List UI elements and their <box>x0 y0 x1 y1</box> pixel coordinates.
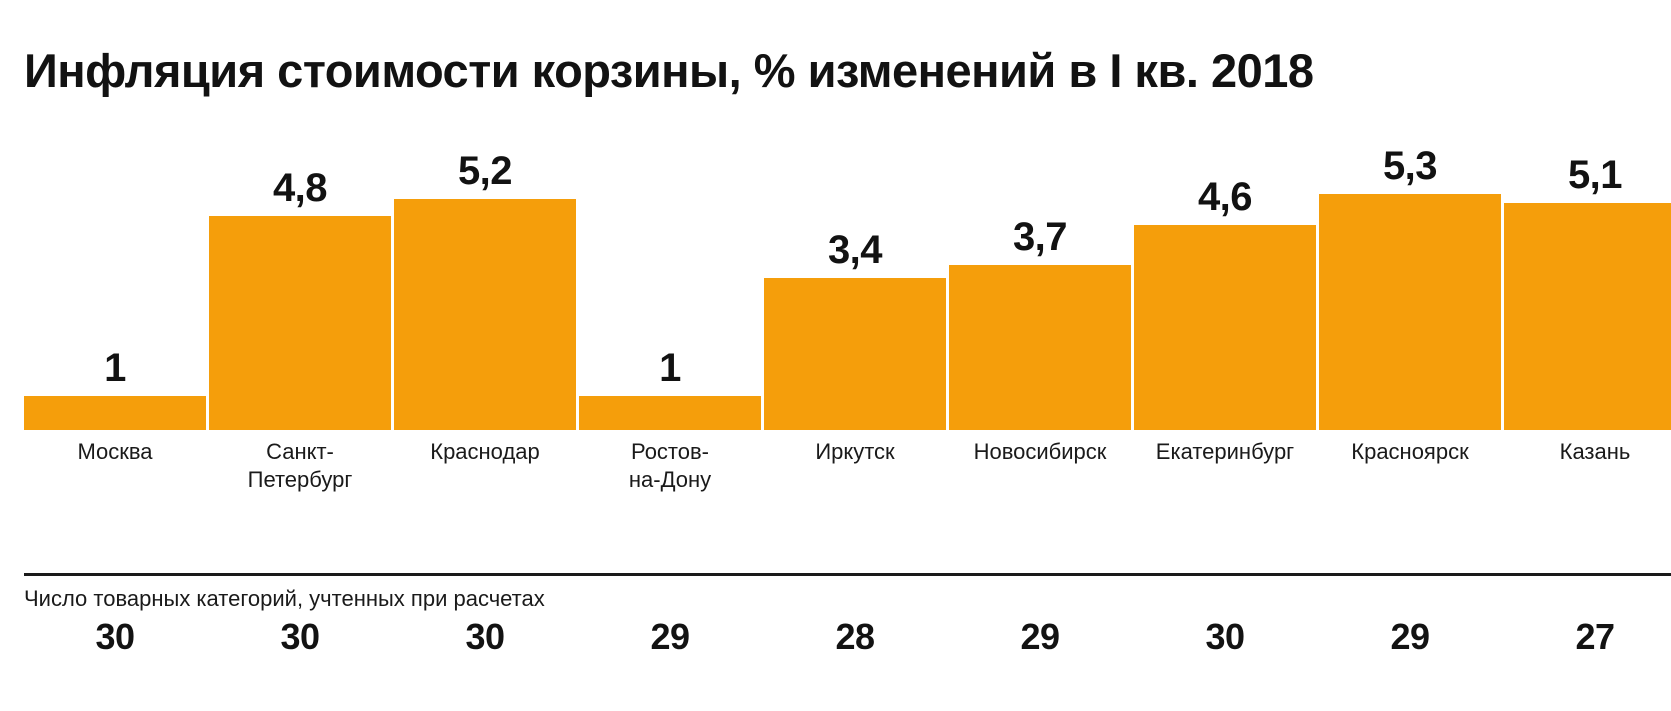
category-label-line: Казань <box>1504 438 1671 466</box>
category-count-value: 30 <box>24 616 206 658</box>
bar-value-label: 3,4 <box>764 228 946 273</box>
category-label-line: Новосибирск <box>949 438 1131 466</box>
category-count-value: 30 <box>394 616 576 658</box>
category-count-value: 29 <box>579 616 761 658</box>
bar-value-label: 4,8 <box>209 166 391 211</box>
bar <box>1504 203 1671 430</box>
bar <box>24 396 206 430</box>
bar <box>579 396 761 430</box>
category-label-line: Москва <box>24 438 206 466</box>
category-label: Москва <box>24 438 206 466</box>
bar <box>209 216 391 430</box>
category-label: Ростов-на-Дону <box>579 438 761 494</box>
category-label-line: Красноярск <box>1319 438 1501 466</box>
category-label: Краснодар <box>394 438 576 466</box>
bar-value-label: 3,7 <box>949 215 1131 260</box>
bar-value-label: 5,1 <box>1504 153 1671 198</box>
category-label-line: на-Дону <box>579 466 761 494</box>
footer-note: Число товарных категорий, учтенных при р… <box>24 586 545 612</box>
category-label: Красноярск <box>1319 438 1501 466</box>
category-count-value: 27 <box>1504 616 1671 658</box>
category-label: Иркутск <box>764 438 946 466</box>
category-label: Казань <box>1504 438 1671 466</box>
bar-value-label: 5,3 <box>1319 144 1501 189</box>
bar <box>394 199 576 430</box>
bar <box>1319 194 1501 430</box>
category-label-line: Ростов- <box>579 438 761 466</box>
category-axis-labels: МоскваСанкт-ПетербургКраснодарРостов-на-… <box>0 438 1671 538</box>
category-count-value: 28 <box>764 616 946 658</box>
category-label: Екатеринбург <box>1134 438 1316 466</box>
bar <box>764 278 946 430</box>
category-label: Новосибирск <box>949 438 1131 466</box>
bar-value-label: 5,2 <box>394 149 576 194</box>
footer-divider <box>24 573 1671 576</box>
bar-value-label: 1 <box>579 346 761 391</box>
category-count-value: 29 <box>949 616 1131 658</box>
category-label-line: Петербург <box>209 466 391 494</box>
category-count-value: 30 <box>209 616 391 658</box>
category-count-value: 29 <box>1319 616 1501 658</box>
infographic-chart: Инфляция стоимости корзины, % изменений … <box>0 0 1671 711</box>
category-label: Санкт-Петербург <box>209 438 391 494</box>
category-label-line: Краснодар <box>394 438 576 466</box>
bar-value-label: 4,6 <box>1134 175 1316 220</box>
bar <box>1134 225 1316 430</box>
bar <box>949 265 1131 430</box>
category-count-value: 30 <box>1134 616 1316 658</box>
category-label-line: Санкт- <box>209 438 391 466</box>
category-label-line: Иркутск <box>764 438 946 466</box>
category-label-line: Екатеринбург <box>1134 438 1316 466</box>
bar-value-label: 1 <box>24 346 206 391</box>
bar-chart-plot-area: 14,85,213,43,74,65,35,1 <box>0 0 1671 430</box>
category-count-row: 303030292829302927 <box>0 616 1671 676</box>
